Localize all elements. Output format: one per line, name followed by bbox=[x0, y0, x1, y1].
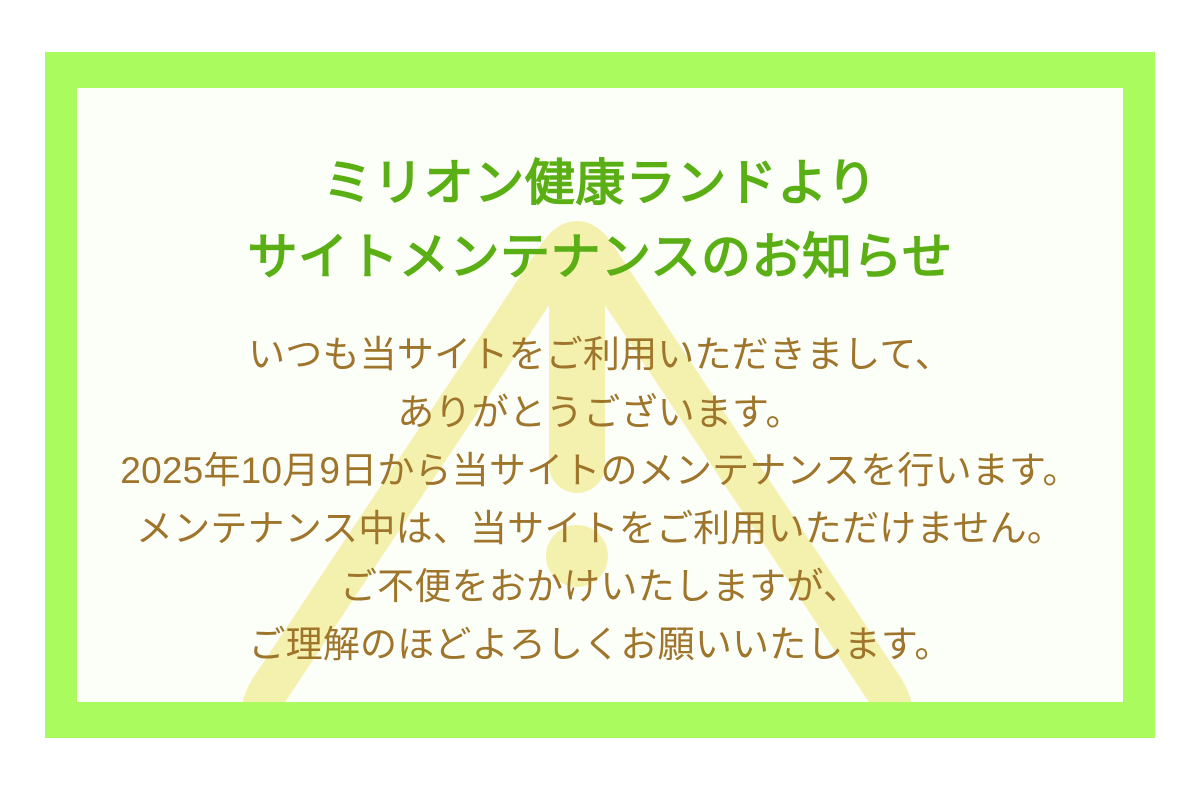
notice-content: ミリオン健康ランドより サイトメンテナンスのお知らせ いつも当サイトをご利用いた… bbox=[77, 88, 1123, 702]
notice-title: ミリオン健康ランドより サイトメンテナンスのお知らせ bbox=[248, 146, 953, 294]
notice-title-line-2: サイトメンテナンスのお知らせ bbox=[248, 220, 953, 294]
notice-green-frame: ミリオン健康ランドより サイトメンテナンスのお知らせ いつも当サイトをご利用いた… bbox=[45, 52, 1155, 738]
notice-body-line-6: ご理解のほどよろしくお願いいたします。 bbox=[120, 616, 1079, 674]
notice-body-line-3: 2025年10月9日から当サイトのメンテナンスを行います。 bbox=[120, 442, 1079, 500]
notice-body-line-2: ありがとうございます。 bbox=[120, 384, 1079, 442]
notice-title-line-1: ミリオン健康ランドより bbox=[248, 146, 953, 220]
notice-body-line-4: メンテナンス中は、当サイトをご利用いただけません。 bbox=[120, 500, 1079, 558]
notice-body-line-1: いつも当サイトをご利用いただきまして、 bbox=[120, 326, 1079, 384]
notice-page: ミリオン健康ランドより サイトメンテナンスのお知らせ いつも当サイトをご利用いた… bbox=[0, 0, 1200, 800]
notice-body-line-5: ご不便をおかけいたしますが、 bbox=[120, 558, 1079, 616]
notice-body: いつも当サイトをご利用いただきまして、 ありがとうございます。 2025年10月… bbox=[120, 326, 1079, 674]
notice-inner-panel: ミリオン健康ランドより サイトメンテナンスのお知らせ いつも当サイトをご利用いた… bbox=[77, 88, 1123, 702]
